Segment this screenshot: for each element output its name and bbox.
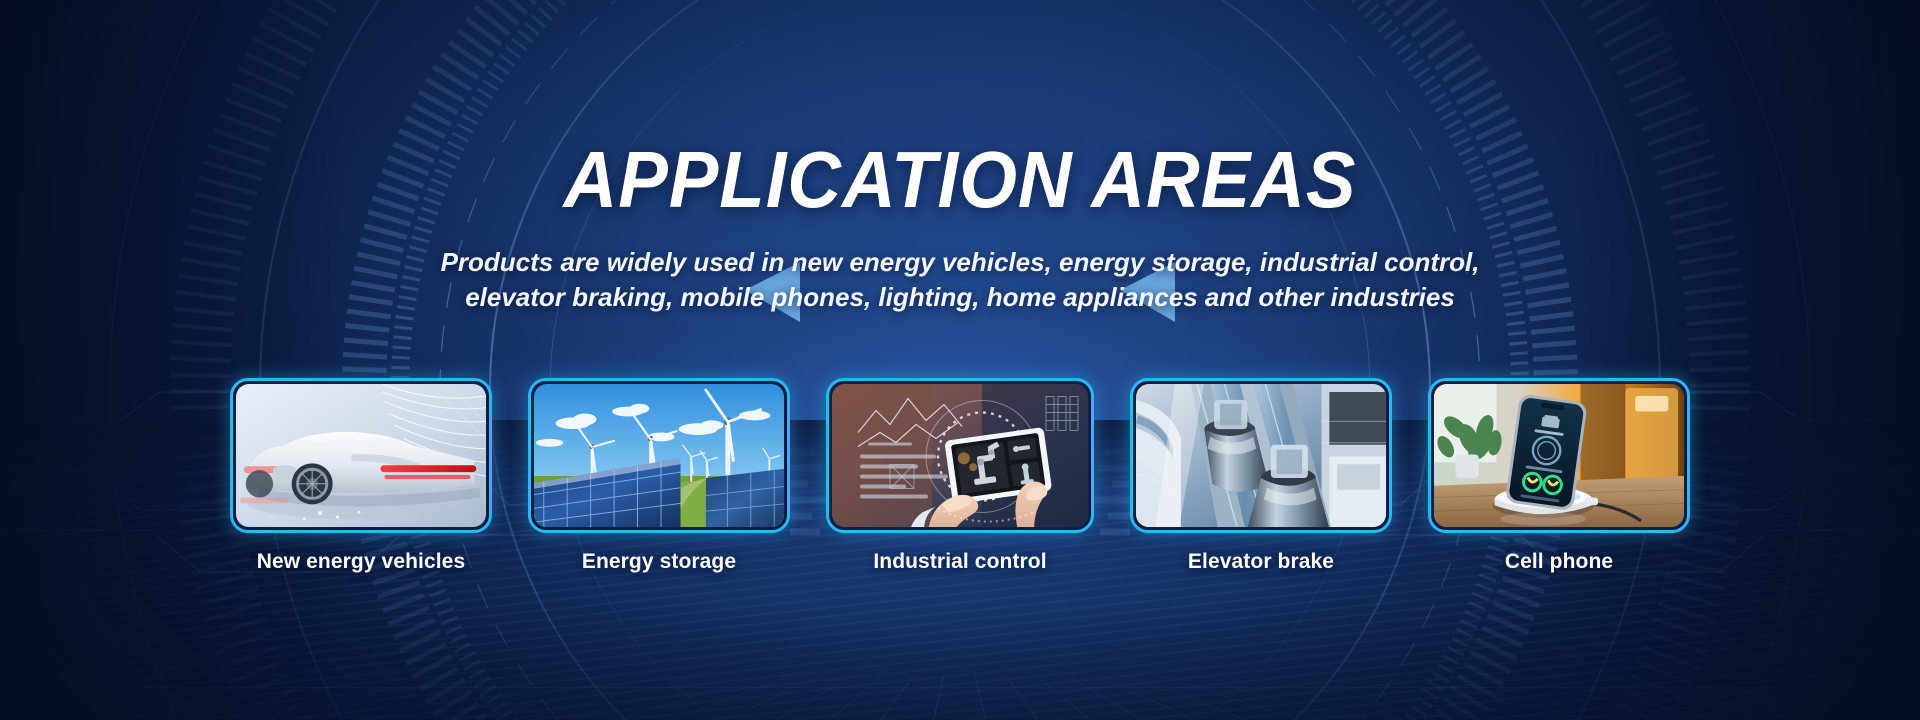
card-thumbnail-frame[interactable]	[230, 378, 492, 533]
card-thumbnail-frame[interactable]	[826, 378, 1094, 533]
card-thumbnail-frame[interactable]	[1428, 378, 1690, 533]
application-card-elevator-brake[interactable]: Elevator brake	[1130, 378, 1392, 574]
card-label: Elevator brake	[1130, 550, 1392, 574]
glass-elevators-photo	[1136, 384, 1386, 527]
card-thumbnail-frame[interactable]	[1130, 378, 1392, 533]
phone-on-wireless-charger-photo	[1434, 384, 1684, 527]
card-label: Energy storage	[528, 550, 790, 574]
application-card-new-energy-vehicles[interactable]: New energy vehicles	[230, 378, 492, 574]
card-thumbnail-frame[interactable]	[528, 378, 790, 533]
application-card-energy-storage[interactable]: Energy storage	[528, 378, 790, 574]
application-card-list: New energy vehicles	[230, 378, 1690, 574]
solar-panels-wind-turbines-photo	[534, 384, 784, 527]
subtitle-line-2: elevator braking, mobile phones, lightin…	[370, 280, 1550, 315]
card-label: Industrial control	[826, 550, 1094, 574]
card-label: New energy vehicles	[230, 550, 492, 574]
hands-holding-tablet-robot-arm-photo	[832, 384, 1088, 527]
page-title: APPLICATION AREAS	[67, 140, 1853, 220]
application-card-industrial-control[interactable]: Industrial control	[826, 378, 1094, 574]
application-card-cell-phone[interactable]: Cell phone	[1428, 378, 1690, 574]
card-label: Cell phone	[1428, 550, 1690, 574]
white-sports-car-photo	[236, 384, 486, 527]
page-subtitle: Products are widely used in new energy v…	[370, 245, 1550, 314]
subtitle-line-1: Products are widely used in new energy v…	[441, 247, 1480, 277]
